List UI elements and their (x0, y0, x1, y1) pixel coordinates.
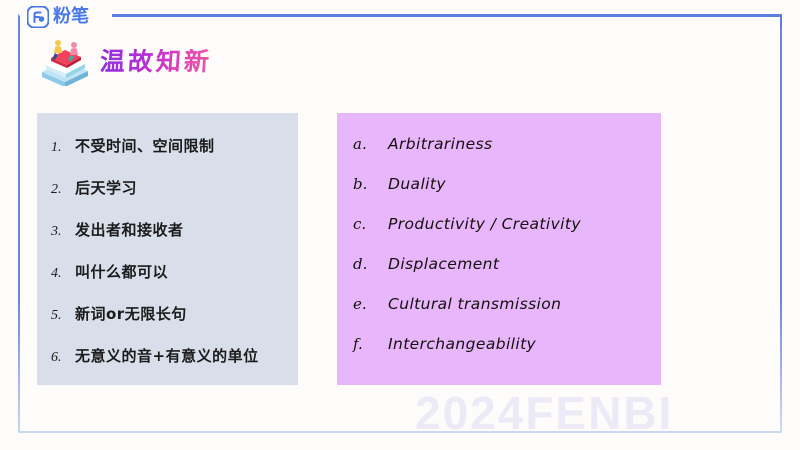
brand-logo: 粉笔 (27, 5, 89, 29)
slide-canvas: 粉笔 温故知新 2024FENBI (0, 0, 800, 450)
slide-frame-left-fade (18, 300, 20, 433)
list-item-marker: d. (353, 255, 388, 273)
list-item-label: Interchangeability (388, 335, 536, 353)
list-item-label: Arbitrariness (388, 135, 492, 153)
list-item: 3. 发出者和接收者 (51, 219, 298, 240)
list-item-label: 发出者和接收者 (75, 219, 184, 240)
brand-logo-text: 粉笔 (53, 6, 89, 28)
list-item-label: 叫什么都可以 (75, 261, 168, 282)
list-item: 1. 不受时间、空间限制 (51, 135, 298, 156)
header-rule-corner (780, 14, 782, 28)
section-heading-title: 温故知新 (99, 49, 217, 74)
watermark-text: 2024FENBI (415, 386, 673, 440)
list-item-marker: 6. (51, 350, 75, 366)
stacked-books-icon (38, 36, 92, 86)
list-item: 5. 新词or无限长句 (51, 303, 298, 324)
right-content-panel: a. Arbitrariness b. Duality c. Productiv… (337, 113, 661, 385)
list-item: 6. 无意义的音+有意义的单位 (51, 345, 298, 366)
list-item-label: 后天学习 (75, 177, 137, 198)
list-item-marker: 5. (51, 308, 75, 324)
list-item-label: Displacement (388, 255, 499, 273)
slide-frame-right-fade (780, 300, 782, 433)
list-item-marker: b. (353, 175, 388, 193)
list-item-marker: 2. (51, 182, 75, 198)
list-item: a. Arbitrariness (353, 135, 661, 153)
list-item-marker: f. (353, 335, 388, 353)
list-item-label: Productivity / Creativity (388, 215, 581, 233)
list-item-marker: e. (353, 295, 388, 313)
fenbi-fb-logo-icon (27, 6, 49, 28)
list-item: d. Displacement (353, 255, 661, 273)
list-item-label: 无意义的音+有意义的单位 (75, 345, 259, 366)
list-item-label: 不受时间、空间限制 (75, 135, 215, 156)
section-heading: 温故知新 (38, 34, 216, 88)
list-item: e. Cultural transmission (353, 295, 661, 313)
list-item: f. Interchangeability (353, 335, 661, 353)
list-item: b. Duality (353, 175, 661, 193)
list-item-marker: 4. (51, 266, 75, 282)
list-item: 2. 后天学习 (51, 177, 298, 198)
list-item-label: Duality (388, 175, 446, 193)
list-item-label: Cultural transmission (388, 295, 561, 313)
header-rule (112, 14, 782, 17)
list-item-marker: 3. (51, 224, 75, 240)
english-feature-list: a. Arbitrariness b. Duality c. Productiv… (353, 135, 661, 353)
chinese-feature-list: 1. 不受时间、空间限制 2. 后天学习 3. 发出者和接收者 4. 叫什么都可… (51, 135, 298, 366)
list-item: 4. 叫什么都可以 (51, 261, 298, 282)
list-item: c. Productivity / Creativity (353, 215, 661, 233)
list-item-marker: 1. (51, 140, 75, 156)
left-content-panel: 1. 不受时间、空间限制 2. 后天学习 3. 发出者和接收者 4. 叫什么都可… (37, 113, 298, 385)
list-item-marker: a. (353, 135, 388, 153)
list-item-marker: c. (353, 215, 388, 233)
list-item-label: 新词or无限长句 (75, 303, 187, 324)
